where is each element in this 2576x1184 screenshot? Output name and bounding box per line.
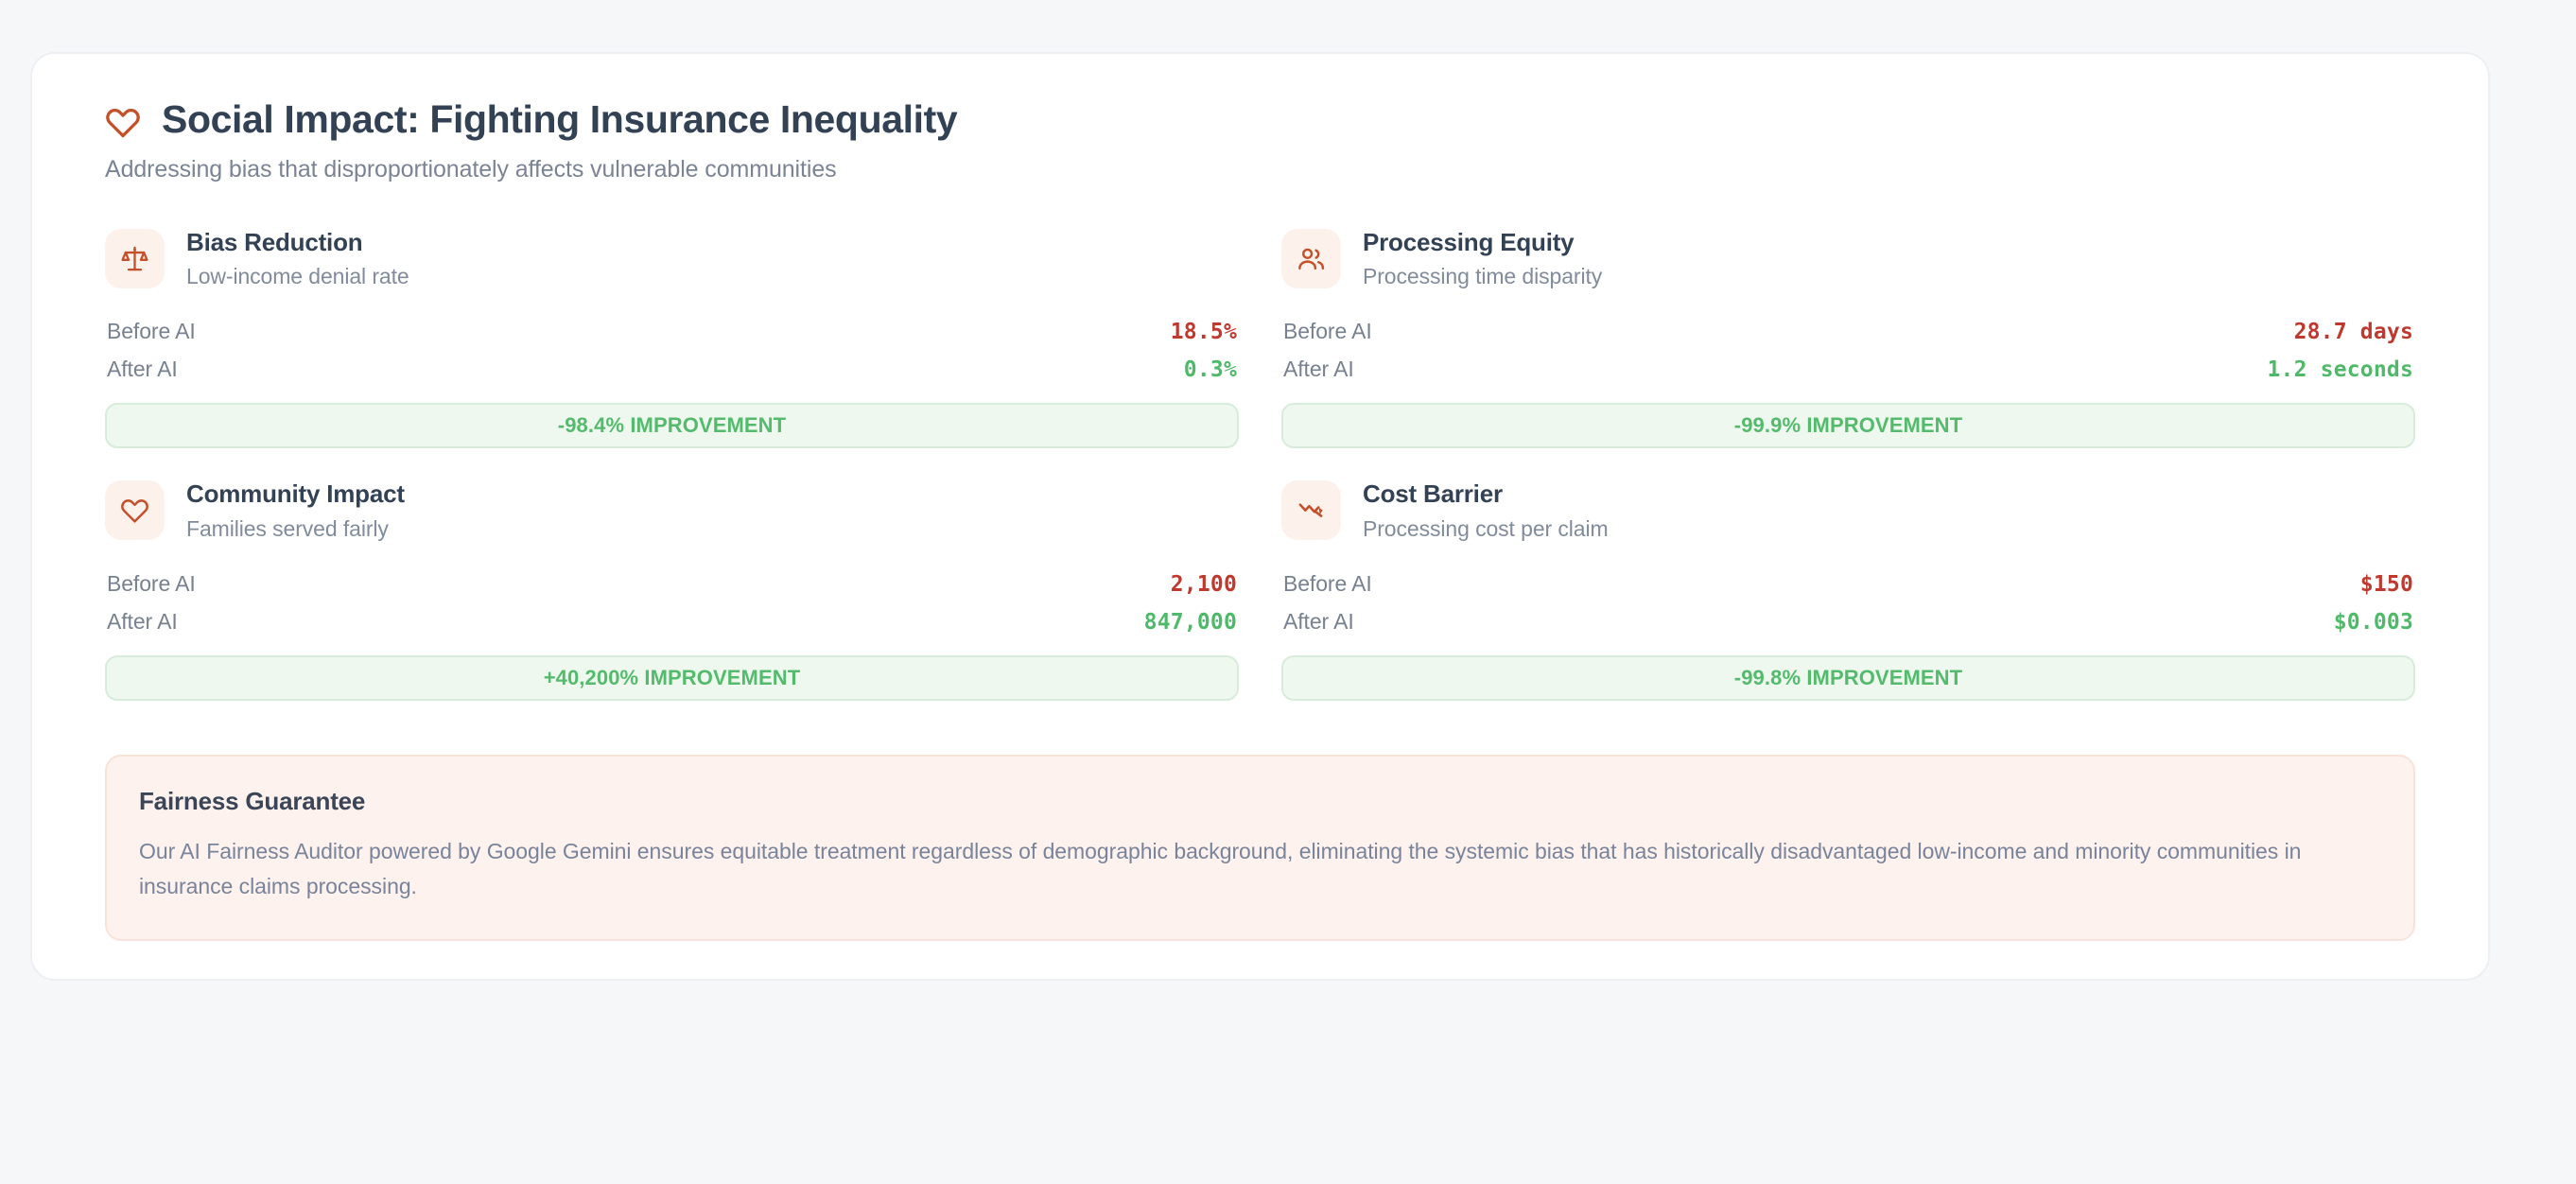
scales-of-justice-icon (105, 229, 165, 288)
before-value: 28.7 days (2294, 320, 2413, 344)
fairness-guarantee-callout: Fairness Guarantee Our AI Fairness Audit… (105, 755, 2415, 942)
heart-icon (105, 104, 141, 140)
metric-title-block: Community Impact Families served fairly (186, 479, 405, 541)
metric-values: Before AI 28.7 days After AI 1.2 seconds (1281, 313, 2415, 389)
panel-header: Social Impact: Fighting Insurance Inequa… (81, 97, 2439, 183)
metric-name: Community Impact (186, 479, 405, 509)
after-label: After AI (107, 357, 178, 382)
metric-card-community-impact: Community Impact Families served fairly … (105, 479, 1239, 731)
trending-down-icon (1281, 480, 1341, 540)
after-label: After AI (107, 609, 178, 635)
metric-row-before: Before AI 18.5% (105, 313, 1239, 351)
metric-name: Cost Barrier (1363, 479, 1609, 509)
metric-description: Families served fairly (186, 516, 405, 542)
after-label: After AI (1283, 609, 1354, 635)
improvement-label: +40,200% IMPROVEMENT (544, 666, 801, 690)
metric-values: Before AI $150 After AI $0.003 (1281, 566, 2415, 641)
metric-values: Before AI 18.5% After AI 0.3% (105, 313, 1239, 389)
improvement-badge: -99.9% IMPROVEMENT (1281, 403, 2415, 448)
before-label: Before AI (1283, 571, 1372, 597)
metric-name: Bias Reduction (186, 228, 409, 257)
metric-title-block: Cost Barrier Processing cost per claim (1363, 479, 1609, 541)
after-value: 1.2 seconds (2267, 357, 2413, 382)
metric-card-cost-barrier: Cost Barrier Processing cost per claim B… (1281, 479, 2415, 731)
after-value: 847,000 (1144, 610, 1237, 635)
after-value: 0.3% (1184, 357, 1237, 382)
improvement-label: -99.9% IMPROVEMENT (1734, 413, 1962, 438)
metrics-grid: Bias Reduction Low-income denial rate Be… (81, 228, 2439, 731)
metric-description: Processing cost per claim (1363, 516, 1609, 542)
metric-title-block: Processing Equity Processing time dispar… (1363, 228, 1602, 289)
before-value: 2,100 (1171, 572, 1237, 597)
before-value: $150 (2360, 572, 2413, 597)
improvement-badge: +40,200% IMPROVEMENT (105, 655, 1239, 701)
after-value: $0.003 (2334, 610, 2413, 635)
before-label: Before AI (107, 319, 196, 344)
before-label: Before AI (1283, 319, 1372, 344)
metric-description: Processing time disparity (1363, 264, 1602, 289)
improvement-badge: -99.8% IMPROVEMENT (1281, 655, 2415, 701)
metric-title-block: Bias Reduction Low-income denial rate (186, 228, 409, 289)
metric-row-after: After AI $0.003 (1281, 603, 2415, 641)
metric-header: Bias Reduction Low-income denial rate (105, 228, 1239, 289)
page-root: Social Impact: Fighting Insurance Inequa… (0, 0, 2576, 1184)
page-title: Social Impact: Fighting Insurance Inequa… (162, 97, 957, 142)
social-impact-panel: Social Impact: Fighting Insurance Inequa… (30, 52, 2490, 981)
metric-description: Low-income denial rate (186, 264, 409, 289)
metric-row-after: After AI 0.3% (105, 351, 1239, 389)
fairness-guarantee-title: Fairness Guarantee (139, 787, 2381, 816)
after-label: After AI (1283, 357, 1354, 382)
improvement-label: -99.8% IMPROVEMENT (1734, 666, 1962, 690)
metric-row-before: Before AI 2,100 (105, 566, 1239, 603)
title-row: Social Impact: Fighting Insurance Inequa… (105, 97, 2439, 142)
metric-card-processing-equity: Processing Equity Processing time dispar… (1281, 228, 2415, 479)
metric-header: Cost Barrier Processing cost per claim (1281, 479, 2415, 541)
heart-icon (105, 480, 165, 540)
fairness-guarantee-body: Our AI Fairness Auditor powered by Googl… (139, 834, 2381, 906)
metric-row-before: Before AI $150 (1281, 566, 2415, 603)
metric-row-after: After AI 847,000 (105, 603, 1239, 641)
improvement-label: -98.4% IMPROVEMENT (558, 413, 786, 438)
before-label: Before AI (107, 571, 196, 597)
improvement-badge: -98.4% IMPROVEMENT (105, 403, 1239, 448)
metric-header: Processing Equity Processing time dispar… (1281, 228, 2415, 289)
metric-card-bias-reduction: Bias Reduction Low-income denial rate Be… (105, 228, 1239, 479)
metric-row-after: After AI 1.2 seconds (1281, 351, 2415, 389)
metric-values: Before AI 2,100 After AI 847,000 (105, 566, 1239, 641)
metric-header: Community Impact Families served fairly (105, 479, 1239, 541)
metric-row-before: Before AI 28.7 days (1281, 313, 2415, 351)
before-value: 18.5% (1171, 320, 1237, 344)
metric-name: Processing Equity (1363, 228, 1602, 257)
page-subtitle: Addressing bias that disproportionately … (105, 156, 2439, 183)
users-icon (1281, 229, 1341, 288)
